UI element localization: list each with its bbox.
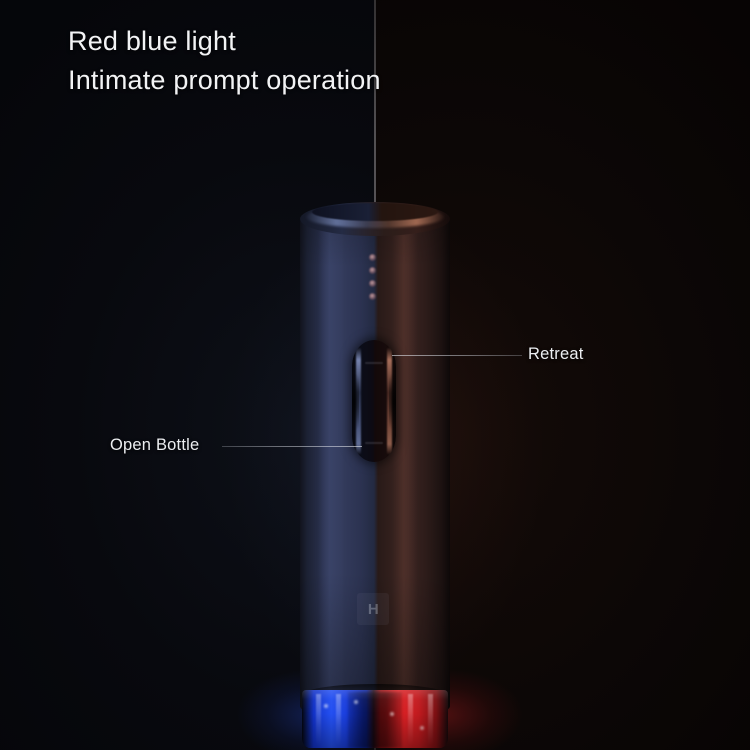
- led-indicator-3: [369, 280, 376, 287]
- button-open-icon: [365, 442, 383, 444]
- led-indicator-strip: [369, 254, 381, 300]
- callout-label-retreat: Retreat: [528, 345, 584, 364]
- callout-leader-retreat: [392, 355, 522, 356]
- brand-logo-badge: H: [357, 593, 389, 625]
- led-indicator-2: [369, 267, 376, 274]
- headline-text: Red blue light Intimate prompt operation: [68, 22, 381, 100]
- illuminated-light-chamber: [302, 690, 448, 748]
- button-waist-shadow-right: [389, 374, 396, 430]
- callout-label-open-bottle: Open Bottle: [110, 436, 199, 455]
- button-retreat-icon: [365, 362, 383, 364]
- chamber-glass-shine: [302, 690, 448, 748]
- led-indicator-4: [369, 293, 376, 300]
- callout-leader-open-bottle: [222, 446, 362, 447]
- button-waist-shadow-left: [352, 374, 359, 430]
- product-image: H: [298, 198, 452, 750]
- led-indicator-1: [369, 254, 376, 261]
- product-banner-scene: Red blue light Intimate prompt operation…: [0, 0, 750, 750]
- cap-top-surface: [312, 203, 438, 221]
- product-control-button: [352, 340, 396, 462]
